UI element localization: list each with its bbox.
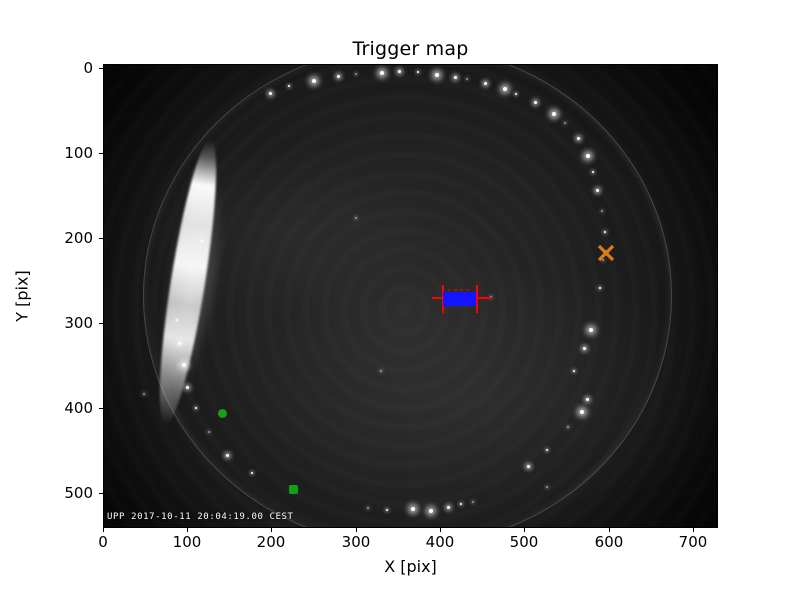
- x-tick-label: 600: [595, 533, 624, 551]
- timestamp-overlay: UPP 2017-10-11 20:04:19.00 CEST: [107, 512, 294, 522]
- x-tick-label: 100: [173, 533, 202, 551]
- crosshair-vertical-right: [476, 285, 478, 313]
- x-axis-label: X [pix]: [103, 557, 718, 576]
- x-tick-label: 400: [426, 533, 455, 551]
- page-title: Trigger map: [103, 38, 718, 60]
- x-tick-label: 200: [257, 533, 286, 551]
- trigger-map-figure: Trigger map: [0, 0, 800, 600]
- x-tick-label: 300: [342, 533, 371, 551]
- reference-star-marker[interactable]: [597, 244, 615, 262]
- x-tick-label: 0: [98, 533, 108, 551]
- y-axis-label: Y [pix]: [13, 270, 32, 321]
- y-tick-label: 0: [83, 59, 93, 77]
- x-tick-label: 700: [679, 533, 708, 551]
- trigger-box: [443, 292, 476, 306]
- x-tick-label: 500: [510, 533, 539, 551]
- detection-dot[interactable]: [218, 409, 227, 418]
- trigger-region-marker[interactable]: [432, 280, 492, 316]
- y-tick-label: 200: [64, 229, 93, 247]
- y-tick-label: 100: [64, 144, 93, 162]
- y-tick-label: 400: [64, 399, 93, 417]
- y-tick-label: 500: [64, 484, 93, 502]
- plot-area[interactable]: UPP 2017-10-11 20:04:19.00 CEST: [103, 64, 718, 528]
- y-tick-label: 300: [64, 314, 93, 332]
- trigger-track-dashes: [448, 289, 470, 291]
- detection-dot[interactable]: [289, 485, 298, 494]
